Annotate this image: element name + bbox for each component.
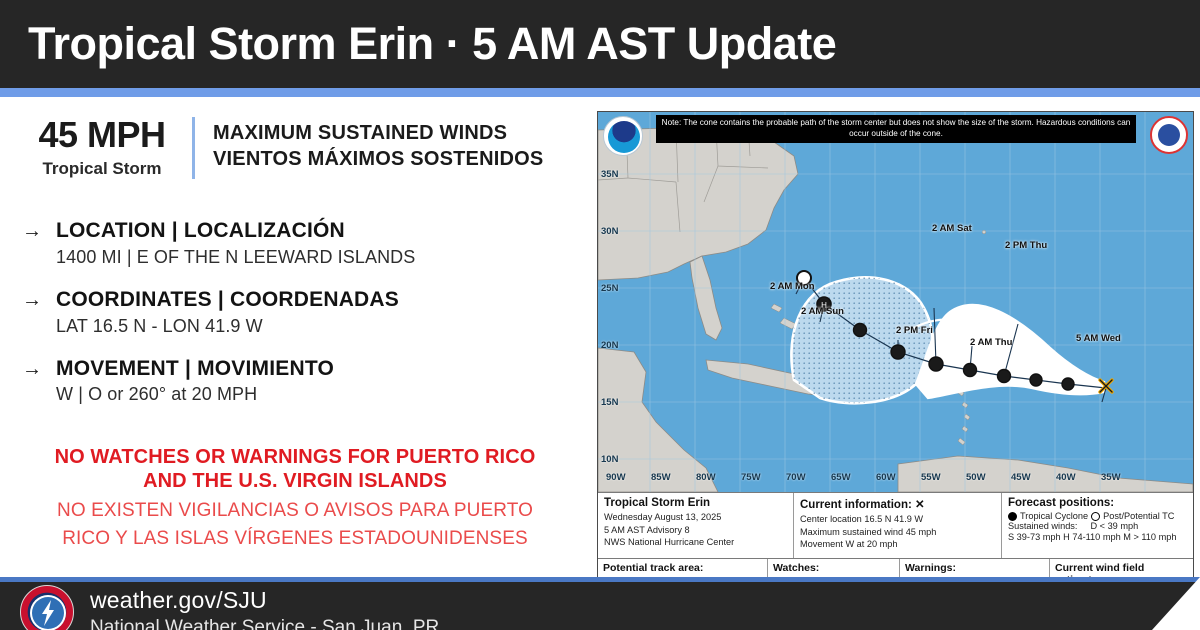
nws-office-name: National Weather Service - San Juan, PR [90, 617, 439, 630]
lon-tick-65w: 65W [831, 472, 851, 483]
storm-category: Tropical Storm [22, 159, 182, 179]
coordinates-title: COORDINATES | COORDENADAS [56, 288, 572, 313]
current-max-wind: Maximum sustained wind 45 mph [800, 526, 995, 539]
map-graphic-area: H Note: The cone contains the probable p… [598, 112, 1193, 492]
current-information-column: Current information: ✕ Center location 1… [794, 493, 1002, 558]
track-label-2am-thu: 2 AM Thu [970, 337, 1012, 348]
weather-gov-url[interactable]: weather.gov/SJU [90, 587, 439, 614]
current-center-location: Center location 16.5 N 41.9 W [800, 513, 995, 526]
footer-accent-bar [0, 577, 1200, 582]
track-label-2pm-thu: 2 PM Thu [1005, 240, 1047, 251]
arrow-icon: → [22, 288, 56, 337]
storm-details-list: → LOCATION | LOCALIZACIÓN 1400 MI | E OF… [22, 219, 572, 425]
warnings-heading: Warnings: [905, 562, 1044, 574]
storm-summary-panel: 45 MPH Tropical Storm MAXIMUM SUSTAINED … [0, 97, 590, 577]
wind-speed-value: 45 MPH [22, 117, 182, 153]
lon-tick-80w: 80W [696, 472, 716, 483]
lon-tick-40w: 40W [1056, 472, 1076, 483]
lightning-bolt-icon [38, 599, 58, 627]
list-item-movement: → MOVEMENT | MOVIMIENTO W | O or 260° at… [22, 357, 572, 406]
movement-value: W | O or 260° at 20 MPH [56, 384, 572, 405]
lon-tick-55w: 55W [921, 472, 941, 483]
warning-spanish-line2: RICO Y LAS ISLAS VÍRGENES ESTADOUNIDENSE… [10, 527, 580, 551]
map-basemap: H [598, 112, 1193, 492]
page-title: Tropical Storm Erin · 5 AM AST Update [0, 18, 836, 70]
current-info-heading: Current information: ✕ [800, 497, 995, 511]
wind-label-block: MAXIMUM SUSTAINED WINDS VIENTOS MÁXIMOS … [213, 115, 543, 179]
longitude-axis: 90W 85W 80W 75W 70W 65W 60W 55W 50W 45W … [598, 472, 1193, 492]
open-circle-icon [1091, 512, 1100, 521]
track-label-2am-sun: 2 AM Sun [801, 306, 844, 317]
vertical-divider [192, 117, 195, 179]
wind-label-spanish: VIENTOS MÁXIMOS SOSTENIDOS [213, 147, 543, 173]
forecast-cone-map[interactable]: H Note: The cone contains the probable p… [597, 111, 1194, 598]
filled-circle-icon [1008, 512, 1017, 521]
header-accent-bar [0, 88, 1200, 97]
noaa-logo-icon [603, 116, 643, 156]
potential-track-heading: Potential track area: [603, 562, 762, 574]
track-label-2am-sat: 2 AM Sat [932, 223, 972, 234]
footer-corner-wedge [1152, 577, 1200, 630]
wind-label-english: MAXIMUM SUSTAINED WINDS [213, 121, 543, 147]
forecast-legend-row: Tropical Cyclone Post/Potential TC [1008, 511, 1187, 521]
storm-identity-column: Tropical Storm Erin Wednesday August 13,… [598, 493, 794, 558]
lon-tick-60w: 60W [876, 472, 896, 483]
arrow-icon: → [22, 219, 56, 268]
post-potential-tc-label: Post/Potential TC [1103, 511, 1174, 521]
page-header: Tropical Storm Erin · 5 AM AST Update [0, 0, 1200, 88]
lon-tick-35w: 35W [1101, 472, 1121, 483]
storm-date: Wednesday August 13, 2025 [604, 511, 787, 524]
lon-tick-70w: 70W [786, 472, 806, 483]
lon-tick-75w: 75W [741, 472, 761, 483]
sustained-winds-row: Sustained winds: D < 39 mph [1008, 521, 1187, 531]
warning-english-line2: AND THE U.S. VIRGIN ISLANDS [10, 469, 580, 493]
current-movement: Movement W at 20 mph [800, 538, 995, 551]
forecast-positions-column: Forecast positions: Tropical Cyclone Pos… [1002, 493, 1193, 558]
movement-title: MOVEMENT | MOVIMIENTO [56, 357, 572, 382]
list-item-location: → LOCATION | LOCALIZACIÓN 1400 MI | E OF… [22, 219, 572, 268]
lon-tick-85w: 85W [651, 472, 671, 483]
location-value: 1400 MI | E OF THE N LEEWARD ISLANDS [56, 247, 572, 268]
cone-disclaimer-note: Note: The cone contains the probable pat… [656, 115, 1136, 143]
lon-tick-90w: 90W [606, 472, 626, 483]
lat-tick-25n: 25N [601, 283, 618, 294]
storm-advisory: 5 AM AST Advisory 8 [604, 524, 787, 537]
lat-tick-15n: 15N [601, 397, 618, 408]
page-footer: weather.gov/SJU National Weather Service… [0, 577, 1200, 630]
arrow-icon: → [22, 357, 56, 406]
lat-tick-10n: 10N [601, 454, 618, 465]
tropical-cyclone-label: Tropical Cyclone [1020, 511, 1088, 521]
nhc-seal-icon [1150, 116, 1188, 154]
wind-speed-block: 45 MPH Tropical Storm [22, 115, 182, 179]
warning-spanish-line1: NO EXISTEN VIGILANCIAS O AVISOS PARA PUE… [10, 499, 580, 523]
max-wind-section: 45 MPH Tropical Storm MAXIMUM SUSTAINED … [22, 115, 543, 179]
lat-tick-30n: 30N [601, 226, 618, 237]
warning-english-line1: NO WATCHES OR WARNINGS FOR PUERTO RICO [10, 445, 580, 469]
watches-heading: Watches: [773, 562, 894, 574]
sustained-winds-label: Sustained winds: [1008, 521, 1077, 531]
lon-tick-50w: 50W [966, 472, 986, 483]
nws-seal-icon [20, 585, 74, 630]
d-category-label: D < 39 mph [1090, 521, 1138, 531]
location-title: LOCATION | LOCALIZACIÓN [56, 219, 572, 244]
lat-tick-20n: 20N [601, 340, 618, 351]
forecast-positions-heading: Forecast positions: [1008, 497, 1187, 509]
watches-warnings-notice: NO WATCHES OR WARNINGS FOR PUERTO RICO A… [10, 445, 580, 551]
lon-tick-45w: 45W [1011, 472, 1031, 483]
track-label-2am-mon: 2 AM Mon [770, 281, 815, 292]
track-label-5am-wed: 5 AM Wed [1076, 333, 1121, 344]
coordinates-value: LAT 16.5 N - LON 41.9 W [56, 316, 572, 337]
storm-agency: NWS National Hurricane Center [604, 536, 787, 549]
lat-tick-35n: 35N [601, 169, 618, 180]
track-label-2pm-fri: 2 PM Fri [896, 325, 933, 336]
list-item-coordinates: → COORDINATES | COORDENADAS LAT 16.5 N -… [22, 288, 572, 337]
storm-name: Tropical Storm Erin [604, 497, 787, 509]
map-info-panel: Tropical Storm Erin Wednesday August 13,… [598, 492, 1193, 558]
wind-scale-line: S 39-73 mph H 74-110 mph M > 110 mph [1008, 531, 1187, 544]
